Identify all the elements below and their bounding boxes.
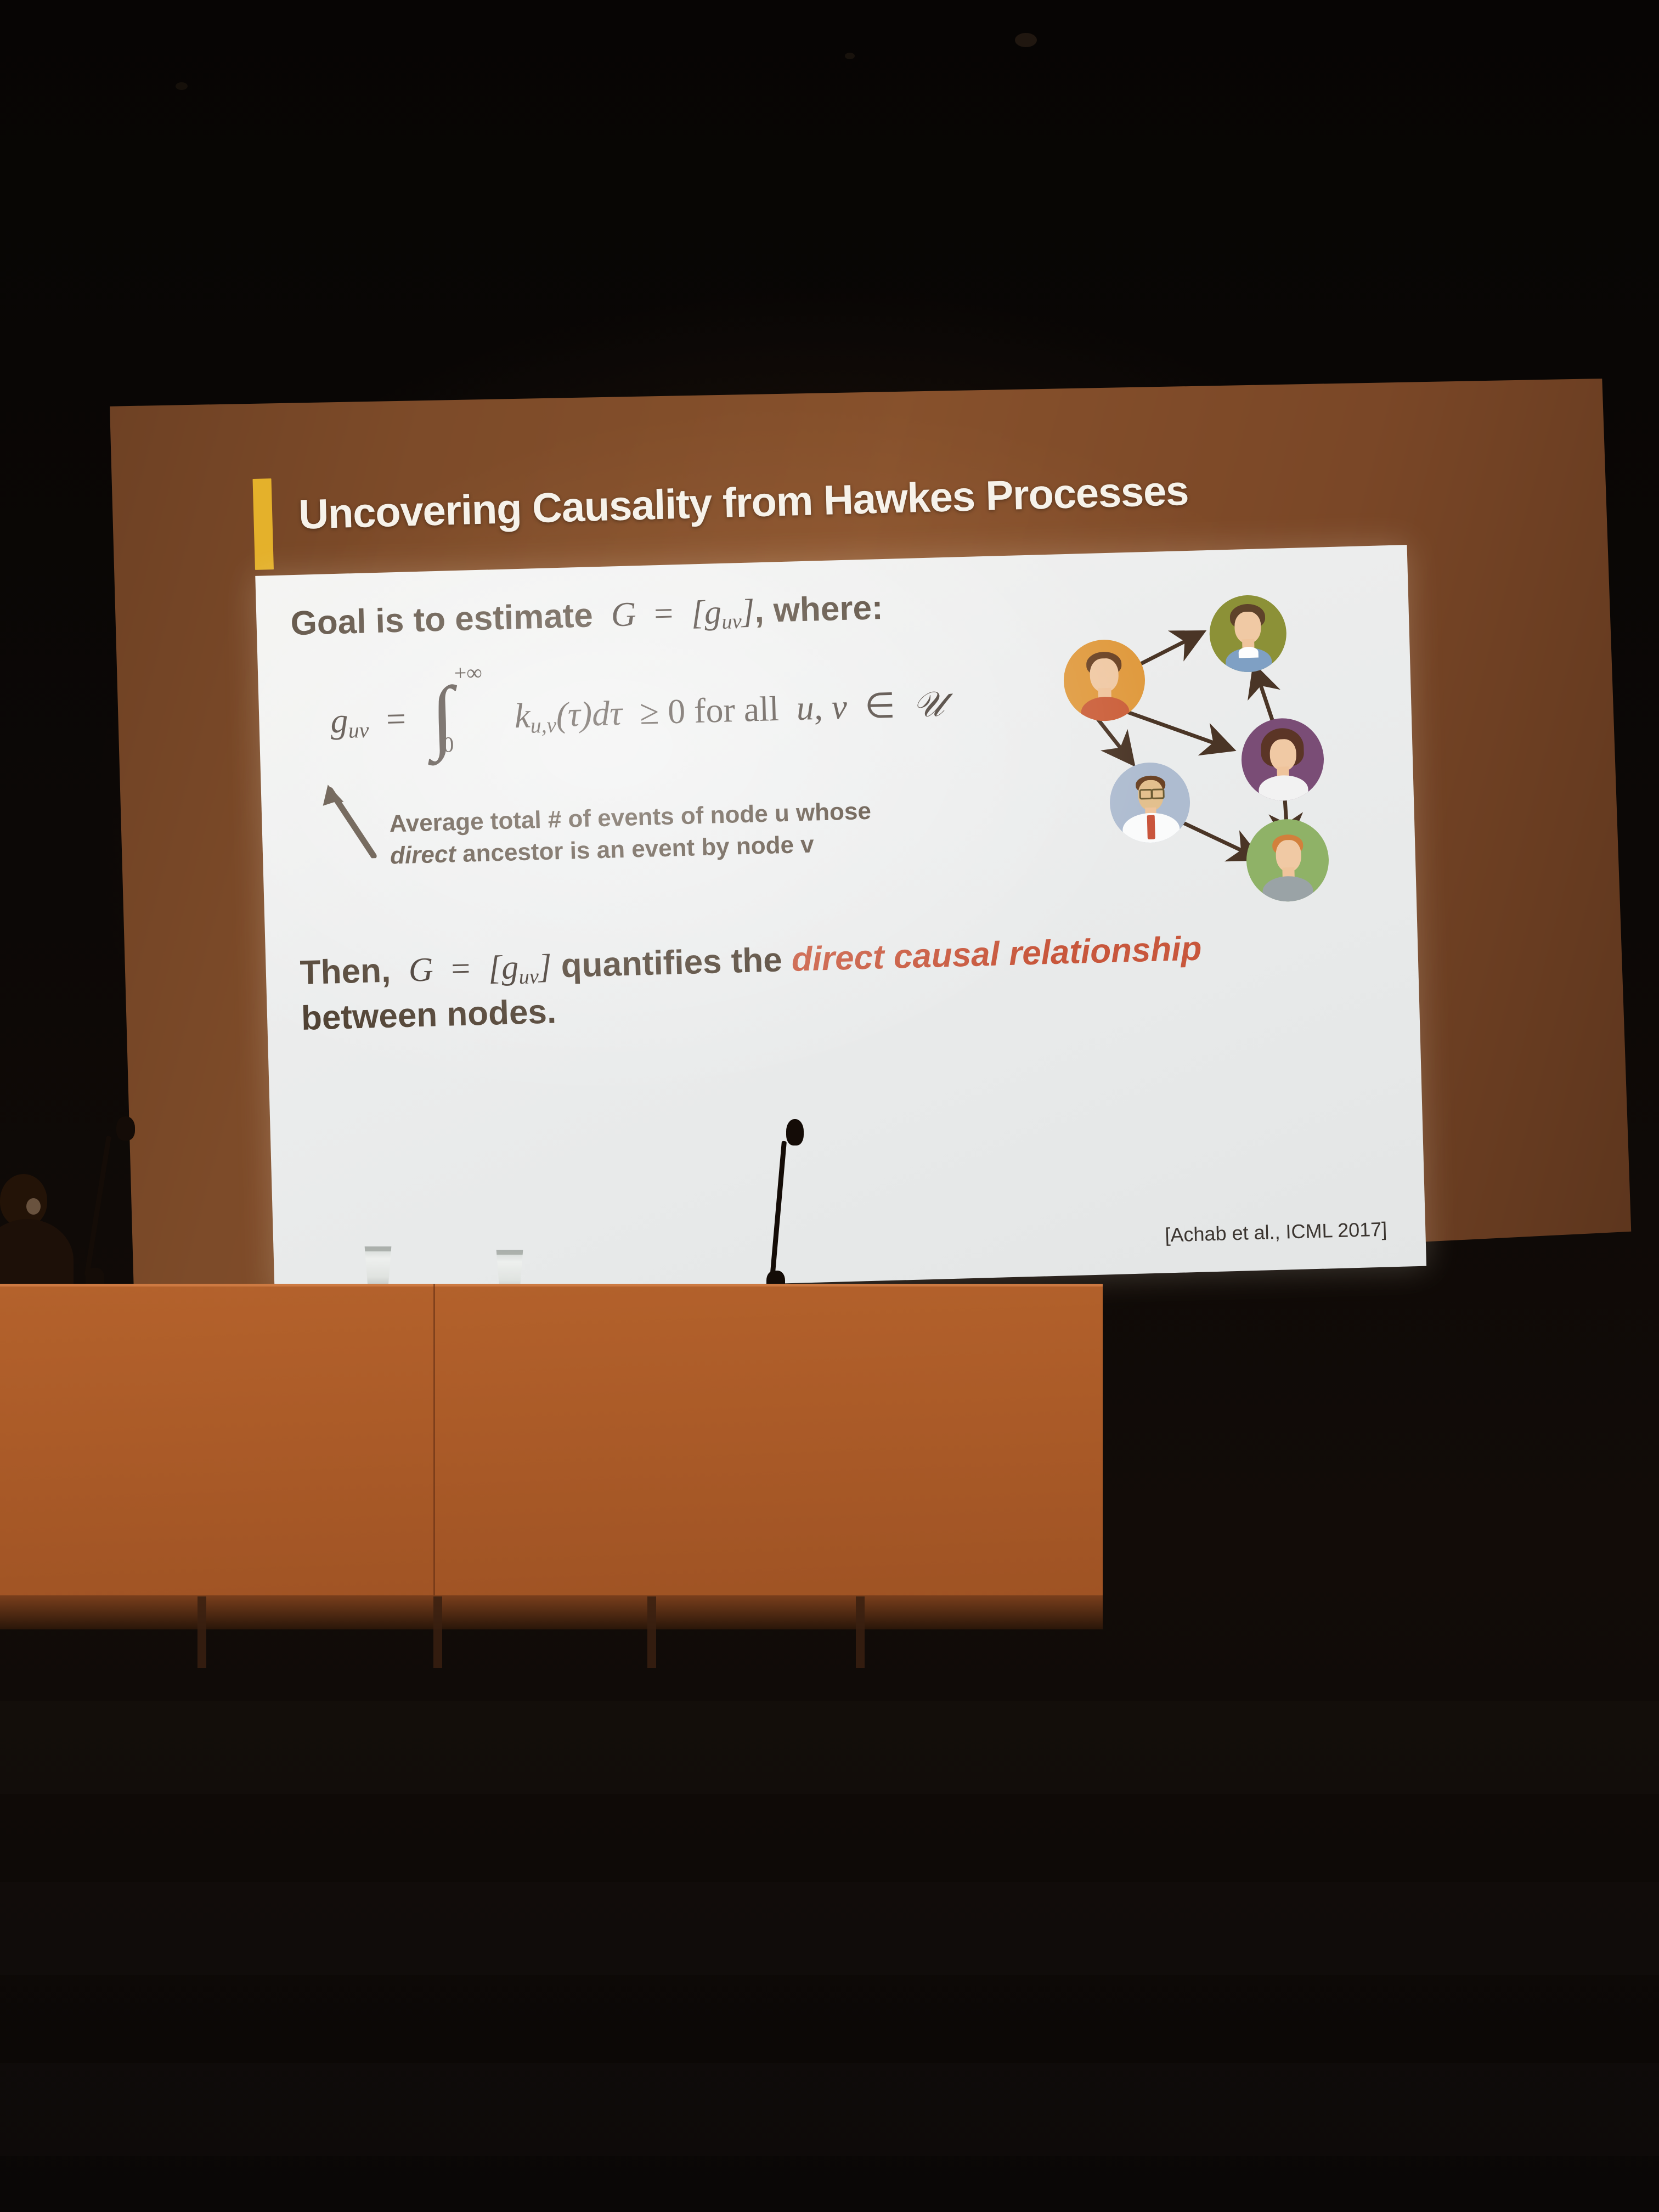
microphone-stem [84, 1136, 111, 1276]
ceiling-speck [845, 53, 855, 59]
integral-lower-limit: 0 [443, 731, 454, 758]
formula-set: 𝒰 [912, 685, 945, 725]
avatar-body [1262, 876, 1313, 902]
formula-integrand-sub: u,v [530, 713, 557, 737]
necktie-icon [1147, 815, 1155, 839]
audience-silhouette [0, 1174, 64, 1300]
slide-title: Uncovering Causality from Hawkes Process… [298, 460, 1424, 538]
formula-variables: u, v [796, 687, 848, 727]
conclusion-tail: between nodes. [301, 993, 557, 1038]
podium-table [0, 1284, 1103, 1596]
microphone-stem [770, 1141, 787, 1282]
conclusion-highlight: direct causal relationship [791, 930, 1202, 979]
integral-sign-icon: ∫ +∞ 0 [423, 688, 489, 754]
conclusion-matrix-open: [g [488, 949, 519, 986]
conclusion-equals: = [450, 950, 471, 988]
conclusion-prefix: Then, [300, 952, 391, 992]
conclusion-statement: Then, G = [guv] quantifies the direct ca… [300, 926, 1262, 1041]
goal-prefix: Goal is to estimate [290, 596, 594, 642]
annotation-arrow-icon [319, 776, 381, 860]
integral-upper-limit: +∞ [454, 659, 482, 686]
formula-member: ∈ [864, 686, 896, 725]
silhouette-highlight [26, 1198, 41, 1215]
gamma-formula: guv = ∫ +∞ 0 ku,v(τ)dτ ≥ 0 for all u, v … [330, 675, 945, 757]
glass-rim [362, 1246, 394, 1251]
glass-rim [494, 1250, 526, 1255]
table-edge-highlight [0, 1284, 1103, 1286]
table-leg [647, 1596, 656, 1668]
avatar-body [1259, 775, 1308, 802]
auditorium-riser [0, 1701, 1659, 1794]
formula-relation: ≥ 0 [639, 692, 686, 732]
table-leg [433, 1596, 442, 1668]
goal-matrix-close: ] [741, 592, 755, 630]
formula-lhs-sub: uv [348, 718, 369, 742]
table-underside-shadow [0, 1595, 1103, 1629]
conclusion-matrix-sub: uv [518, 965, 539, 989]
table-seam [433, 1284, 435, 1596]
annotation-italic-word: direct [390, 840, 456, 869]
goal-suffix: , where: [754, 589, 883, 630]
avatar-body [1081, 696, 1130, 722]
slide-citation: [Achab et al., ICML 2017] [1165, 1218, 1387, 1247]
presentation-slide: Uncovering Causality from Hawkes Process… [252, 437, 1468, 1297]
conclusion-middle: quantifies the [551, 941, 792, 985]
gooseneck-microphone-center [765, 1119, 831, 1295]
goal-matrix-sub: uv [721, 610, 742, 634]
formula-lhs: g [330, 701, 348, 740]
ceiling-speck [176, 82, 188, 90]
slide-content-panel: Goal is to estimate G = [guv], where: gu… [255, 545, 1426, 1297]
microphone-capsule [116, 1116, 135, 1141]
avatar-collar [1238, 647, 1259, 658]
gooseneck-microphone-left [77, 1116, 148, 1292]
formula-integrand: k [514, 696, 531, 735]
auditorium-riser [0, 1882, 1659, 1975]
ceiling-speck [1015, 33, 1037, 47]
goal-equals: = [653, 595, 674, 633]
conclusion-symbol-G: G [408, 951, 434, 989]
annotation-text: Average total # of events of node u whos… [389, 792, 983, 872]
table-leg [856, 1596, 865, 1668]
accent-bar-icon [252, 478, 273, 570]
goal-symbol-G: G [611, 595, 637, 634]
goal-matrix-open: [g [691, 594, 722, 631]
table-leg [198, 1596, 206, 1668]
formula-integrand-arg: (τ)dτ [556, 693, 623, 734]
glasses-icon [1139, 789, 1153, 800]
conclusion-matrix-close: ] [538, 948, 552, 986]
causal-network-diagram [1046, 589, 1406, 928]
auditorium-riser [0, 2063, 1659, 2156]
formula-quantifier: for all [693, 689, 779, 730]
goal-statement: Goal is to estimate G = [guv], where: [290, 588, 884, 646]
microphone-capsule [786, 1119, 804, 1145]
formula-equals: = [386, 699, 407, 738]
annotation-line-2-rest: ancestor is an event by node v [455, 831, 814, 868]
glasses-icon [1151, 788, 1165, 799]
